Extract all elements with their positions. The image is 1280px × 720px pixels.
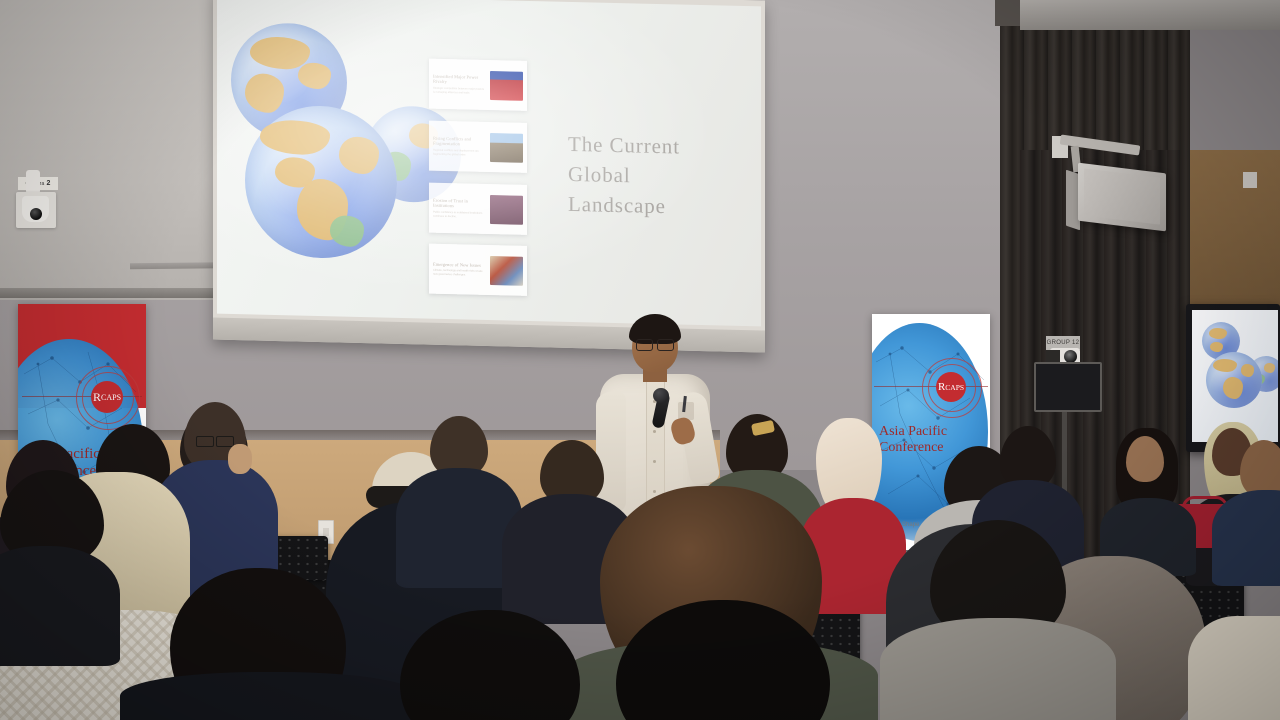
slide-card-title: Emergence of New Issues [433,261,486,268]
camera-label-number: 2 [46,180,50,187]
slide-card-thumbnail [490,256,523,286]
rcaps-logo-caps: CAPS [945,383,964,392]
ceiling-loudspeaker [1078,163,1166,232]
eyeglasses-icon [196,436,234,445]
slide-card: Emergence of New Issues Climate, technol… [429,244,527,296]
monitor-globe-icon [1206,352,1262,408]
slide-card-title: Rising Conflicts and Fragmentation [433,135,486,147]
banner-right-title-line: Conference [879,440,947,456]
slide-card: Erosion of Trust in Institutions Public … [429,183,527,235]
camera-neck [26,170,40,194]
slide-title-line: Landscape [568,189,680,221]
slide-title-line: The Current [568,130,680,162]
slide-card: Rising Conflicts and Fragmentation Regio… [429,121,527,173]
slide-card-thumbnail [490,71,523,101]
slide-title: The Current Global Landscape [568,130,680,222]
slide-card-title: Intensified Major Power Rivalry [433,73,486,85]
conference-photo-scene: Camera2 [0,0,1280,720]
slide-card: Intensified Major Power Rivalry Strategi… [429,59,527,111]
presentation-slide: Intensified Major Power Rivalry Strategi… [217,0,761,326]
banner-right-footer: Shape [902,522,919,528]
preview-monitor [1034,362,1102,412]
wall-plate-right [1243,172,1257,188]
slide-card-body: Regional conflicts and displacement are … [433,148,486,157]
slide-card-title: Erosion of Trust in Institutions [433,197,486,209]
ceiling-strip [1020,0,1280,30]
banner-right-title-line: Asia Pacific [879,424,947,440]
presenter-left-arm [596,392,626,512]
audience-hand [228,444,252,474]
slide-card-body: Public confidence in multilateral instit… [433,210,486,219]
slide-card-body: Climate, technology and health risks cre… [433,269,486,278]
wall-seam [0,288,220,298]
banner-right-title: Asia Pacific Conference [879,424,947,456]
rcaps-logo-left: RCAPS [91,381,123,413]
projection-screen: Intensified Major Power Rivalry Strategi… [213,0,765,353]
slide-card-body: Strategic competition between major powe… [433,86,486,95]
slide-title-line: Global [568,160,680,192]
upper-wall-left-panel [0,0,215,300]
loudspeaker-grille [1084,168,1160,224]
slide-card-thumbnail [490,133,523,163]
eyeglasses-icon [636,339,674,349]
microphone-head-icon [653,388,669,403]
rcaps-logo-r: R [93,390,101,405]
rcaps-logo-right: RCAPS [936,372,966,402]
rcaps-logo-caps: CAPS [101,393,121,402]
slide-card-thumbnail [490,195,523,225]
cream-sweater [1188,616,1280,720]
rcaps-logo-r: R [938,381,945,393]
projection-screen-surface: Intensified Major Power Rivalry Strategi… [217,0,761,326]
camera-lens-icon [30,208,42,220]
